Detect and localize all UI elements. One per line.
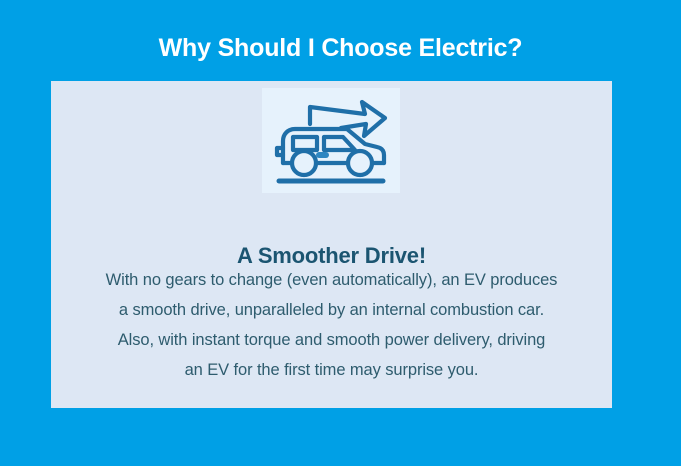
body-line: Also, with instant torque and smooth pow…: [59, 325, 604, 355]
benefit-card: A Smoother Drive! With no gears to chang…: [51, 81, 612, 408]
slide-root: Why Should I Choose Electric?: [0, 0, 681, 466]
body-line: With no gears to change (even automatica…: [59, 265, 604, 295]
electric-car-icon: [269, 93, 393, 189]
body-line: a smooth drive, unparalleled by an inter…: [59, 295, 604, 325]
card-body-text: With no gears to change (even automatica…: [59, 265, 604, 385]
electric-car-image: [262, 88, 400, 193]
page-title: Why Should I Choose Electric?: [0, 31, 681, 65]
body-line: an EV for the first time may surprise yo…: [59, 355, 604, 385]
